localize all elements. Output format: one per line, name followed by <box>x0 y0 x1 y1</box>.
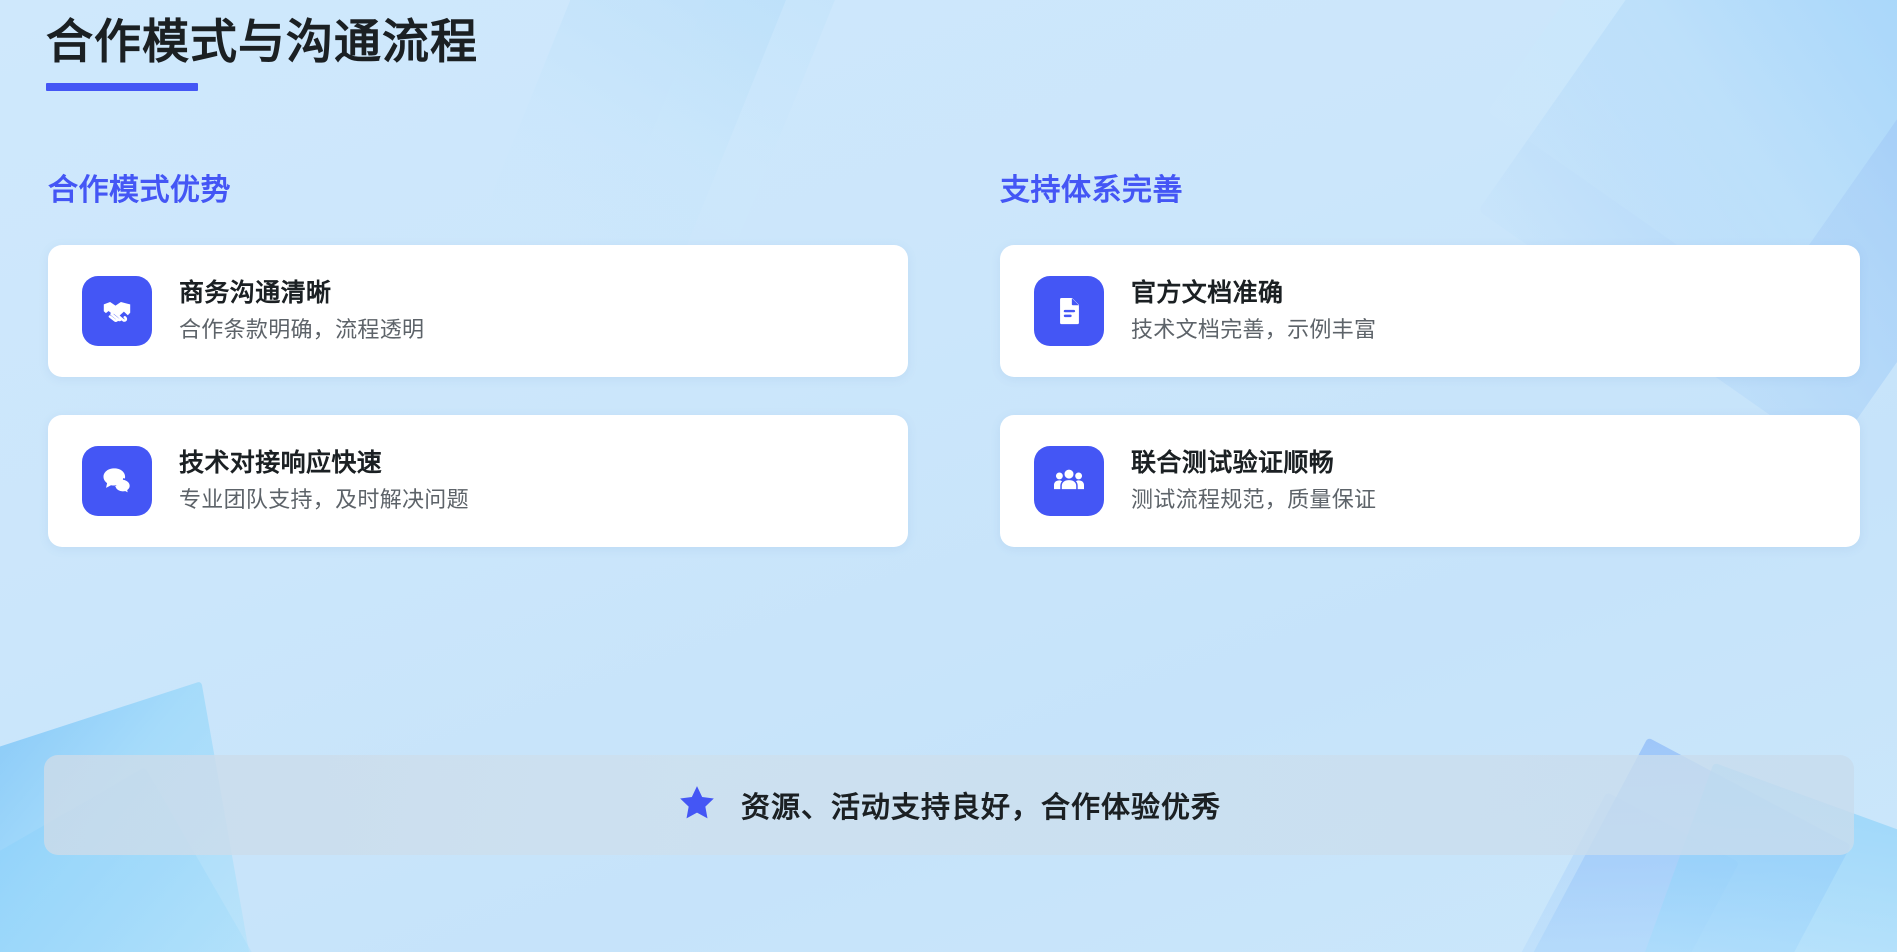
title-underline-accent <box>46 83 198 91</box>
document-icon <box>1034 276 1104 346</box>
page-header: 合作模式与沟通流程 <box>46 14 478 91</box>
summary-banner: 资源、活动支持良好，合作体验优秀 <box>44 755 1854 855</box>
card-description: 技术文档完善，示例丰富 <box>1131 316 1376 345</box>
card-description: 测试流程规范，质量保证 <box>1131 486 1376 515</box>
column-heading-left: 合作模式优势 <box>48 165 908 209</box>
card-title: 官方文档准确 <box>1131 278 1376 309</box>
star-icon <box>677 783 717 828</box>
card-title: 商务沟通清晰 <box>179 278 424 309</box>
card-description: 专业团队支持，及时解决问题 <box>179 486 469 515</box>
card-title: 技术对接响应快速 <box>179 448 469 479</box>
feature-card-technical-response[interactable]: 技术对接响应快速 专业团队支持，及时解决问题 <box>48 415 908 547</box>
chat-bubbles-icon <box>82 446 152 516</box>
column-cooperation-advantages: 合作模式优势 商务沟通清晰 合作条款明确，流程透明 <box>48 165 908 585</box>
card-title: 联合测试验证顺畅 <box>1131 448 1376 479</box>
people-group-icon <box>1034 446 1104 516</box>
summary-banner-text: 资源、活动支持良好，合作体验优秀 <box>741 784 1221 826</box>
card-text-block: 联合测试验证顺畅 测试流程规范，质量保证 <box>1131 448 1376 515</box>
card-description: 合作条款明确，流程透明 <box>179 316 424 345</box>
feature-card-business-communication[interactable]: 商务沟通清晰 合作条款明确，流程透明 <box>48 245 908 377</box>
card-text-block: 官方文档准确 技术文档完善，示例丰富 <box>1131 278 1376 345</box>
feature-card-official-docs[interactable]: 官方文档准确 技术文档完善，示例丰富 <box>1000 245 1860 377</box>
column-heading-right: 支持体系完善 <box>1000 165 1860 209</box>
feature-card-joint-testing[interactable]: 联合测试验证顺畅 测试流程规范，质量保证 <box>1000 415 1860 547</box>
slide-root: 合作模式与沟通流程 合作模式优势 商务沟通清晰 合作条款明确，流程透明 <box>0 0 1897 952</box>
handshake-icon <box>82 276 152 346</box>
column-support-system: 支持体系完善 官方文档准确 技术文档完善，示例丰富 <box>1000 165 1860 585</box>
page-title: 合作模式与沟通流程 <box>46 14 478 69</box>
card-text-block: 技术对接响应快速 专业团队支持，及时解决问题 <box>179 448 469 515</box>
card-text-block: 商务沟通清晰 合作条款明确，流程透明 <box>179 278 424 345</box>
